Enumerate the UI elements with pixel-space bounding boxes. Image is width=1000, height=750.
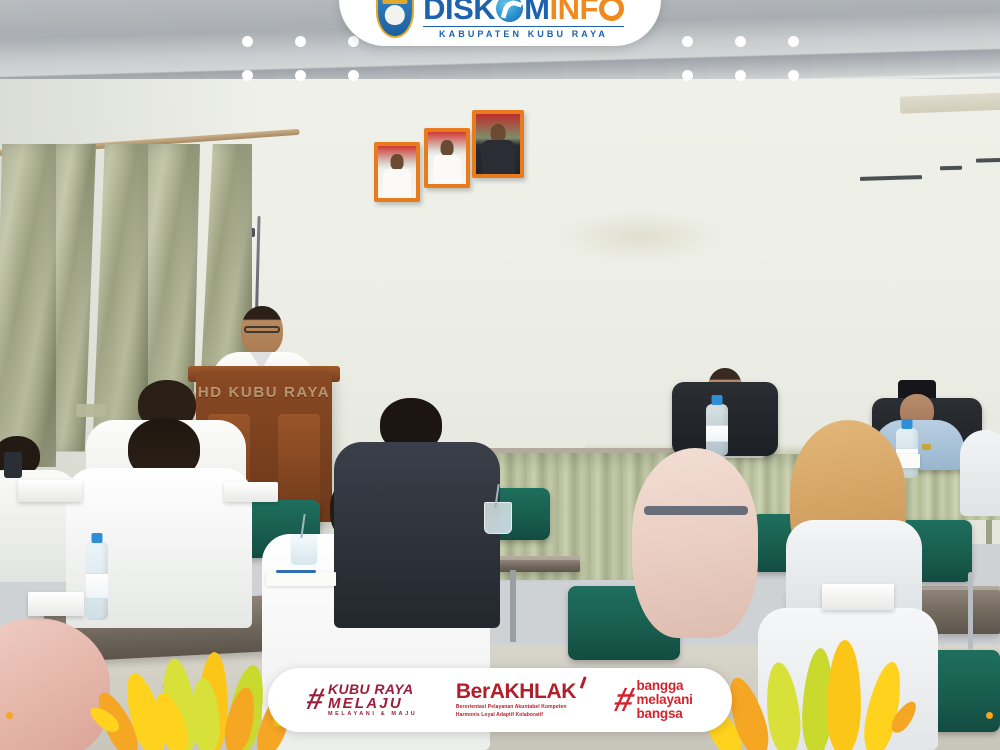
portrait-regent bbox=[374, 142, 420, 202]
dot bbox=[735, 70, 746, 81]
bangga-melayani-bangsa-logo: # bangga melayani bangsa bbox=[615, 679, 693, 720]
wordmark-part-3: INF bbox=[549, 0, 597, 24]
berakhlak-logo: BerAKHLAK Berorientasi Pelayanan Akuntab… bbox=[456, 681, 576, 719]
wall-vent-3 bbox=[976, 157, 1000, 162]
berakhlak-sub-line-2: Harmonis Loyal Adaptif Kolaboratif bbox=[456, 712, 543, 718]
hash-icon: # bbox=[304, 685, 325, 715]
snack-box-1 bbox=[18, 480, 82, 502]
bmb-line-2: melayani bbox=[637, 693, 693, 707]
dot bbox=[682, 70, 693, 81]
dot bbox=[242, 36, 253, 47]
diskominfo-wordmark: DISK M INF KABUPATEN KUBU RAYA bbox=[423, 0, 624, 39]
wordmark-part-2: M bbox=[524, 0, 549, 24]
header-logo-pill: DISK M INF KABUPATEN KUBU RAYA bbox=[339, 0, 661, 46]
wall-stain bbox=[550, 210, 730, 263]
dot bbox=[242, 70, 253, 81]
speaker-glasses-icon bbox=[244, 326, 280, 333]
dot bbox=[682, 36, 693, 47]
kubu-raya-regency-crest-icon bbox=[376, 0, 414, 38]
footer-logo-pill: # KUBU RAYA MELAJU MELAYANI & MAJU BerAK… bbox=[268, 668, 732, 732]
hash-icon: # bbox=[610, 683, 634, 717]
bmb-line-3: bangsa bbox=[637, 707, 693, 721]
desk-leg-middle bbox=[510, 570, 516, 642]
wordmark-o-ring-icon bbox=[599, 0, 624, 21]
wordmark-part-1: DISK bbox=[423, 0, 495, 24]
berakhlak-sub-line-1: Berorientasi Pelayanan Akuntabel Kompete… bbox=[456, 704, 567, 710]
snack-box-2 bbox=[28, 592, 84, 616]
decorative-dot-grid-left bbox=[242, 36, 359, 81]
water-bottle-foreground bbox=[86, 542, 108, 620]
krm-line-2: MELAJU bbox=[328, 696, 417, 711]
wall-vent-2 bbox=[940, 166, 962, 171]
drink-cup-1 bbox=[290, 534, 318, 566]
head-table-leg-2 bbox=[986, 520, 992, 544]
wordmark-divider bbox=[423, 26, 624, 28]
chair-frame-2 bbox=[968, 572, 973, 650]
papers-foreground bbox=[266, 572, 336, 586]
water-bottle-head-table-left bbox=[706, 404, 728, 456]
attendee-suit-torso bbox=[334, 442, 500, 628]
portrait-vice-regent bbox=[424, 128, 470, 188]
snack-box-4 bbox=[822, 584, 894, 610]
snack-box-3 bbox=[224, 482, 278, 502]
dot bbox=[295, 70, 306, 81]
photo-card: HD KUBU RAYA bbox=[0, 0, 1000, 750]
bmb-line-1: bangga bbox=[637, 679, 693, 693]
corner-accent-dot-right bbox=[986, 712, 993, 719]
krm-tagline: MELAYANI & MAJU bbox=[328, 712, 417, 718]
attendee-pink-hijab-icon bbox=[632, 448, 758, 638]
attendee-far-right-torso bbox=[960, 430, 1000, 516]
pen-foreground bbox=[276, 570, 316, 573]
podium-label: HD KUBU RAYA bbox=[196, 384, 332, 401]
berakhlak-wordmark: BerAKHLAK bbox=[456, 680, 576, 703]
attendee-left-phone-icon bbox=[4, 452, 22, 478]
curtain-panel-1 bbox=[0, 144, 64, 467]
globe-icon bbox=[496, 0, 523, 22]
decorative-dot-grid-right bbox=[682, 36, 799, 81]
dot bbox=[788, 36, 799, 47]
dot bbox=[735, 36, 746, 47]
dot bbox=[295, 36, 306, 47]
corner-accent-dot-left bbox=[6, 712, 13, 719]
dot bbox=[348, 36, 359, 47]
portrait-president bbox=[472, 110, 524, 178]
meeting-room-photograph: HD KUBU RAYA bbox=[0, 0, 1000, 750]
header-subtitle: KABUPATEN KUBU RAYA bbox=[423, 29, 624, 39]
attendee-fg-right-torso bbox=[758, 608, 938, 750]
official-right-badge bbox=[922, 444, 931, 450]
dot bbox=[348, 70, 359, 81]
krm-line-1: KUBU RAYA bbox=[328, 682, 417, 696]
kubu-raya-melaju-logo: # KUBU RAYA MELAJU MELAYANI & MAJU bbox=[307, 682, 417, 718]
dot bbox=[788, 70, 799, 81]
curtain-tieback-1 bbox=[76, 404, 106, 417]
attendee-pink-hijab-band bbox=[644, 506, 748, 515]
drink-cup-2 bbox=[484, 502, 512, 534]
